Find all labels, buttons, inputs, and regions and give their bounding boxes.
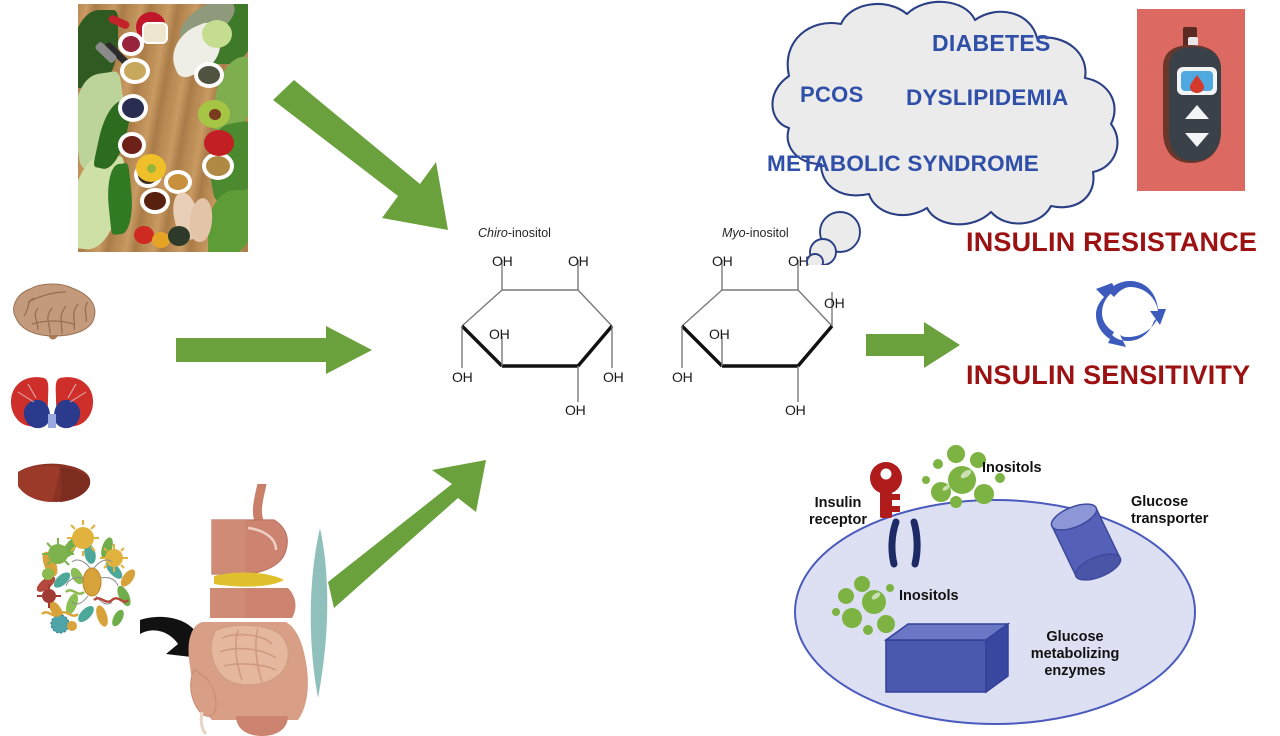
insulin-sensitivity-label: INSULIN SENSITIVITY bbox=[966, 360, 1250, 391]
glucose-enzymes-label: Glucose metabolizing enzymes bbox=[1010, 629, 1140, 680]
bowl bbox=[118, 132, 146, 158]
bowl bbox=[118, 32, 144, 56]
cloud-item-metabolic-syndrome: METABOLIC SYNDROME bbox=[767, 151, 1039, 177]
chiro-oh-2: OH bbox=[568, 253, 588, 269]
cloud-item-diabetes: DIABETES bbox=[932, 30, 1051, 57]
thought-cloud bbox=[685, 0, 1125, 265]
kidneys-icon bbox=[6, 370, 98, 432]
cell-diagram bbox=[790, 436, 1260, 736]
seeds bbox=[198, 66, 220, 84]
chiro-oh-5: OH bbox=[603, 369, 623, 385]
circular-arrows-icon bbox=[1094, 281, 1166, 347]
bowl bbox=[164, 170, 192, 194]
tomato bbox=[134, 226, 154, 244]
gut-microbiota-icon bbox=[28, 518, 156, 646]
enzymes-box bbox=[886, 624, 1008, 692]
tofu-block bbox=[144, 24, 166, 42]
myo-oh-4: OH bbox=[672, 369, 692, 385]
myo-inositol-structure bbox=[660, 250, 860, 430]
insulin-resistance-label: INSULIN RESISTANCE bbox=[966, 227, 1257, 258]
bowl bbox=[120, 58, 150, 84]
chiro-suffix: -inositol bbox=[508, 226, 551, 240]
myo-oh-3: OH bbox=[709, 326, 729, 342]
bowl bbox=[202, 152, 234, 180]
arrow-organs-to-molecules bbox=[176, 324, 376, 376]
berries bbox=[122, 36, 140, 52]
myo-oh-6: OH bbox=[785, 402, 805, 418]
dried-fruit bbox=[144, 192, 166, 210]
brain-icon bbox=[8, 280, 102, 342]
red-pepper bbox=[204, 130, 234, 156]
cloud-item-dyslipidemia: DYSLIPIDEMIA bbox=[906, 85, 1068, 111]
arrow-gut-to-molecules bbox=[328, 442, 496, 614]
pepper-stem bbox=[147, 164, 156, 173]
grains bbox=[206, 156, 230, 176]
glucose-transporter-label: Glucose transporter bbox=[1131, 494, 1251, 528]
chiro-inositol-label: Chiro-inositol bbox=[478, 226, 551, 240]
glucose-meter-icon bbox=[1153, 27, 1231, 177]
bowl bbox=[194, 62, 224, 88]
arrow-food-to-molecules bbox=[258, 62, 473, 252]
cloud-item-pcos: PCOS bbox=[800, 82, 864, 108]
insulin-receptor-line1: Insulin bbox=[815, 495, 862, 511]
chiro-prefix: Chiro bbox=[478, 226, 508, 240]
bowl bbox=[118, 94, 148, 122]
gut-icon bbox=[150, 484, 330, 736]
inositols-inside-label: Inositols bbox=[899, 588, 959, 605]
liver-icon bbox=[14, 460, 94, 506]
myo-oh-5: OH bbox=[824, 295, 844, 311]
glucose-enzymes-line2: metabolizing bbox=[1031, 646, 1120, 662]
apple bbox=[202, 20, 232, 48]
glucose-transporter-line1: Glucose bbox=[1131, 494, 1188, 510]
insulin-receptor-label: Insulin receptor bbox=[795, 495, 881, 529]
glucose-enzymes-line1: Glucose bbox=[1046, 629, 1103, 645]
glucose-enzymes-line3: enzymes bbox=[1044, 663, 1105, 679]
bowl bbox=[140, 188, 170, 214]
inositols-outside-label: Inositols bbox=[982, 460, 1042, 477]
chiro-oh-4: OH bbox=[452, 369, 472, 385]
food-photo bbox=[78, 4, 248, 252]
glucose-transporter-line2: transporter bbox=[1131, 511, 1208, 527]
avocado-pit bbox=[209, 109, 221, 120]
chiro-inositol-structure bbox=[440, 250, 640, 430]
insulin-receptor-line2: receptor bbox=[809, 512, 867, 528]
blueberries bbox=[122, 98, 144, 118]
chiro-oh-6: OH bbox=[565, 402, 585, 418]
arrow-molecules-to-insulin bbox=[866, 320, 962, 370]
spice bbox=[168, 174, 188, 190]
beans bbox=[122, 136, 142, 154]
chiro-oh-1: OH bbox=[492, 253, 512, 269]
glucose-meter-panel bbox=[1137, 9, 1245, 191]
chiro-oh-3: OH bbox=[489, 326, 509, 342]
figure-canvas: Chiro-inositol OH OH OH OH OH OH Myo-ino… bbox=[0, 0, 1280, 736]
eggplant bbox=[168, 226, 190, 246]
grains bbox=[124, 62, 146, 80]
